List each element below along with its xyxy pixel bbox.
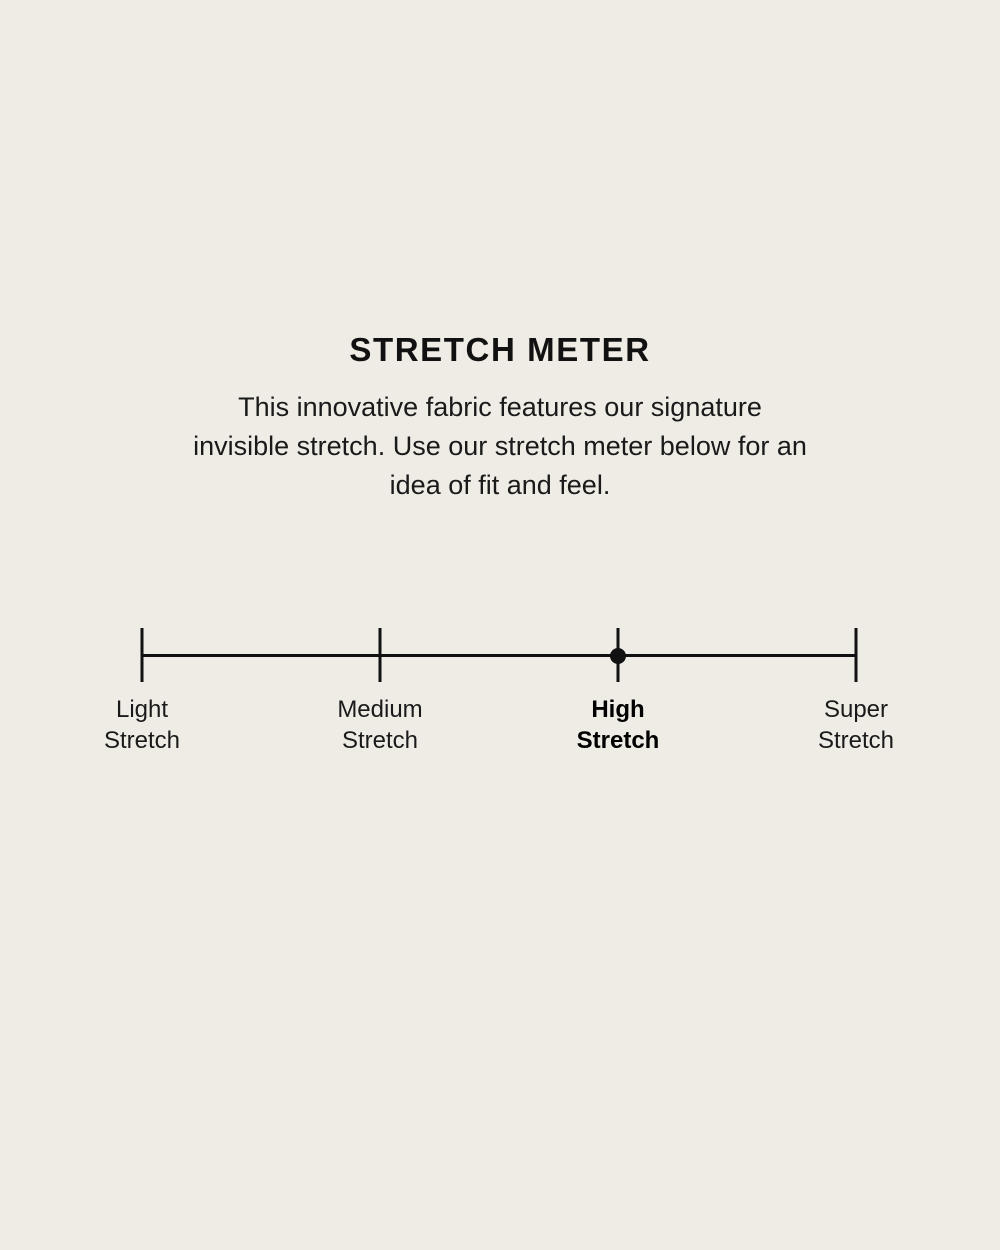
meter-label-light-qualifier: Stretch [32,725,252,756]
meter-selected-indicator-dot[interactable] [610,648,626,664]
meter-label-medium-name: Medium [270,694,490,725]
description-text: This innovative fabric features our sign… [190,370,810,505]
meter-tick-super[interactable] [855,628,858,682]
meter-label-medium[interactable]: Medium Stretch [270,694,490,756]
meter-label-super-name: Super [746,694,966,725]
meter-label-super-qualifier: Stretch [746,725,966,756]
stretch-meter-scale[interactable] [142,628,856,684]
meter-label-light[interactable]: Light Stretch [32,694,252,756]
meter-label-super[interactable]: Super Stretch [746,694,966,756]
meter-label-medium-qualifier: Stretch [270,725,490,756]
meter-labels: Light Stretch Medium Stretch High Stretc… [0,694,1000,764]
page-title: STRETCH METER [0,330,1000,370]
meter-tick-light[interactable] [141,628,144,682]
meter-label-high-qualifier: Stretch [508,725,728,756]
meter-label-light-name: Light [32,694,252,725]
heading-block: STRETCH METER This innovative fabric fea… [0,330,1000,505]
stretch-meter-panel: STRETCH METER This innovative fabric fea… [0,0,1000,1250]
meter-track-line [142,654,856,657]
meter-label-high-name: High [508,694,728,725]
meter-label-high[interactable]: High Stretch [508,694,728,756]
meter-tick-medium[interactable] [378,628,381,682]
